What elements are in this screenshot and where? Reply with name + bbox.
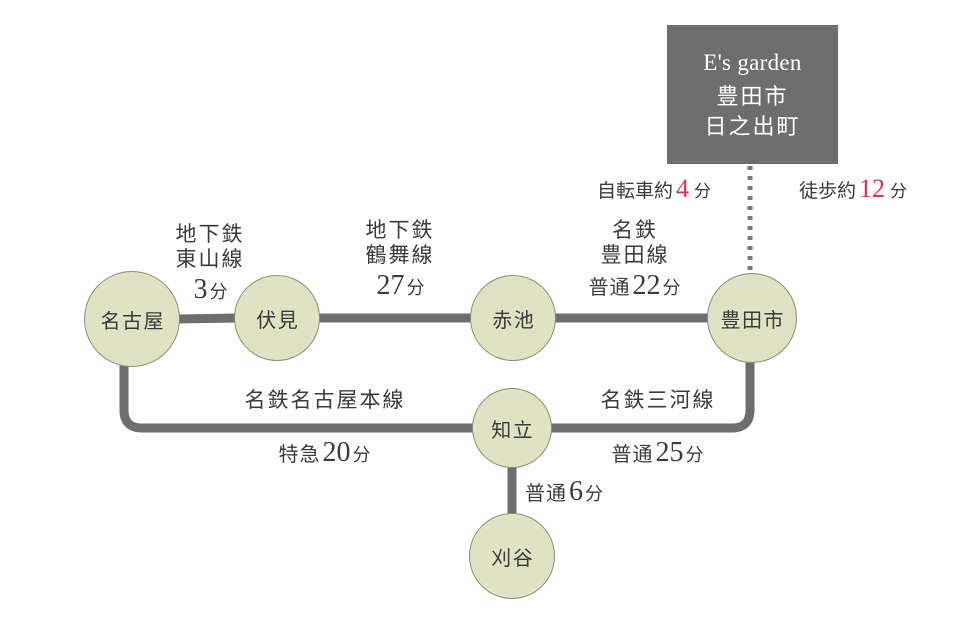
station-chiryu: 知立 [472, 388, 552, 468]
segment-line-name-1: 地下鉄 [125, 222, 295, 247]
station-akaike-label: 赤池 [491, 304, 536, 333]
segment-label-chiryu-kariya: 普通6分 [525, 474, 705, 508]
segment-minutes: 22 [631, 270, 663, 301]
segment-service: 普通 [612, 442, 654, 466]
destination-box: E's garden 豊田市 日之出町 [667, 25, 838, 164]
rail-nagoya-fushimi [176, 318, 238, 319]
access-bike-unit: 分 [692, 177, 711, 202]
segment-label-nagoya-fushimi: 地下鉄 東山線 3分 [125, 222, 295, 306]
segment-line-name-2: 東山線 [125, 247, 295, 272]
station-chiryu-label: 知立 [490, 414, 535, 443]
segment-unit: 分 [407, 278, 426, 299]
segment-label-chiryu-toyotashi-time: 普通25分 [568, 435, 748, 469]
station-nagoya-label: 名古屋 [99, 305, 165, 334]
segment-service: 特急 [279, 442, 321, 466]
segment-line-name-2: 鶴舞線 [315, 243, 485, 268]
segment-minutes: 3 [192, 274, 210, 305]
segment-unit: 分 [663, 278, 682, 299]
segment-time: 3分 [125, 273, 295, 306]
access-bike-prefix: 自転車約 [597, 176, 673, 203]
segment-time: 27分 [315, 269, 485, 302]
segment-unit: 分 [585, 484, 604, 505]
segment-label-nagoya-chiryu-time: 特急20分 [175, 435, 475, 469]
segment-unit: 分 [210, 282, 229, 303]
segment-minutes: 25 [654, 437, 686, 468]
access-walk: 徒歩約 12 分 [799, 176, 907, 203]
segment-time: 普通22分 [545, 269, 725, 302]
segment-label-akaike-toyotashi: 名鉄 豊田線 普通22分 [545, 218, 725, 302]
access-bike-minutes: 4 [673, 176, 692, 202]
segment-line-name-1: 名鉄三河線 [568, 388, 748, 413]
segment-time: 普通6分 [525, 475, 705, 508]
segment-unit: 分 [686, 445, 705, 466]
destination-brand: E's garden [703, 50, 801, 75]
segment-minutes: 27 [375, 270, 407, 301]
segment-time: 普通25分 [568, 436, 748, 469]
segment-service: 普通 [525, 481, 567, 505]
segment-label-chiryu-toyotashi-line: 名鉄三河線 [568, 388, 748, 413]
station-fushimi-label: 伏見 [255, 304, 300, 333]
access-walk-minutes: 12 [856, 176, 888, 202]
segment-line-name-1: 名鉄名古屋本線 [175, 388, 475, 413]
station-toyotashi-label: 豊田市 [719, 304, 785, 333]
station-kariya: 刈谷 [469, 513, 555, 599]
segment-time: 特急20分 [175, 436, 475, 469]
segment-line-name-2: 豊田線 [545, 243, 725, 268]
access-walk-unit: 分 [888, 177, 907, 202]
segment-label-fushimi-akaike: 地下鉄 鶴舞線 27分 [315, 218, 485, 302]
destination-city: 豊田市 [716, 83, 788, 113]
segment-minutes: 20 [321, 437, 353, 468]
access-times: 自転車約 4 分 徒歩約 12 分 [597, 174, 907, 204]
segment-line-name-1: 名鉄 [545, 218, 725, 243]
access-bike: 自転車約 4 分 [597, 176, 711, 203]
segment-line-name-1: 地下鉄 [315, 218, 485, 243]
segment-service: 普通 [589, 275, 631, 299]
destination-town: 日之出町 [704, 113, 800, 143]
route-map-diagram: E's garden 豊田市 日之出町 自転車約 4 分 徒歩約 12 分 名古… [0, 0, 954, 620]
segment-unit: 分 [353, 445, 372, 466]
access-walk-prefix: 徒歩約 [799, 176, 856, 203]
station-kariya-label: 刈谷 [490, 542, 535, 571]
segment-minutes: 6 [567, 476, 585, 507]
segment-label-nagoya-chiryu-line: 名鉄名古屋本線 [175, 388, 475, 413]
